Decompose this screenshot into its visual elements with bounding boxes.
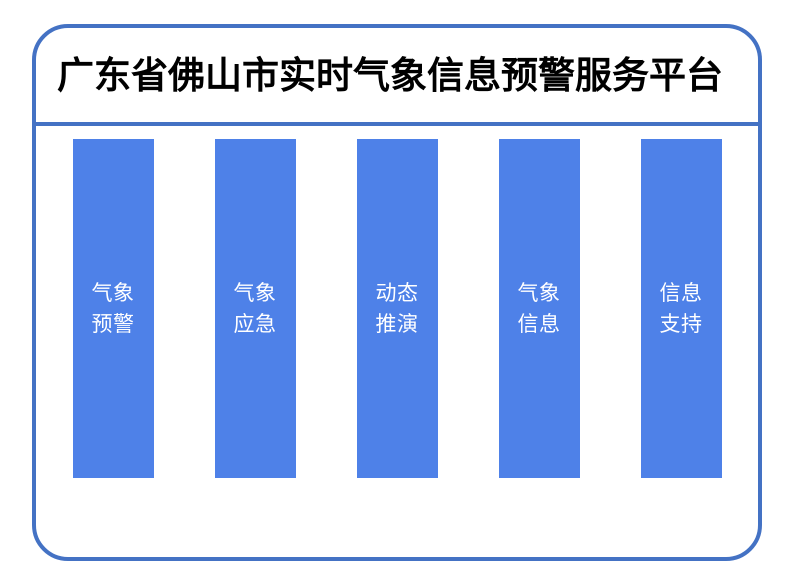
pillar-label: 信息 支持 bbox=[660, 278, 703, 339]
pillar-label: 气象 预警 bbox=[92, 278, 135, 339]
pillar-label: 动态 推演 bbox=[376, 278, 419, 339]
title-band: 广东省佛山市实时气象信息预警服务平台 bbox=[36, 28, 758, 122]
pillar-label: 气象 信息 bbox=[518, 278, 561, 339]
pillar-meteorological-warning[interactable]: 气象 预警 bbox=[73, 139, 154, 478]
pillar-label: 气象 应急 bbox=[234, 278, 277, 339]
pillar-information-support[interactable]: 信息 支持 bbox=[641, 139, 722, 478]
page-title: 广东省佛山市实时气象信息预警服务平台 bbox=[57, 57, 723, 94]
pillar-row: 气象 预警 气象 应急 动态 推演 气象 信息 信息 支持 bbox=[36, 126, 758, 557]
pillar-meteorological-information[interactable]: 气象 信息 bbox=[499, 139, 580, 478]
pillar-dynamic-simulation[interactable]: 动态 推演 bbox=[357, 139, 438, 478]
pillar-meteorological-emergency[interactable]: 气象 应急 bbox=[215, 139, 296, 478]
platform-frame: 广东省佛山市实时气象信息预警服务平台 气象 预警 气象 应急 动态 推演 气象 … bbox=[32, 24, 762, 561]
